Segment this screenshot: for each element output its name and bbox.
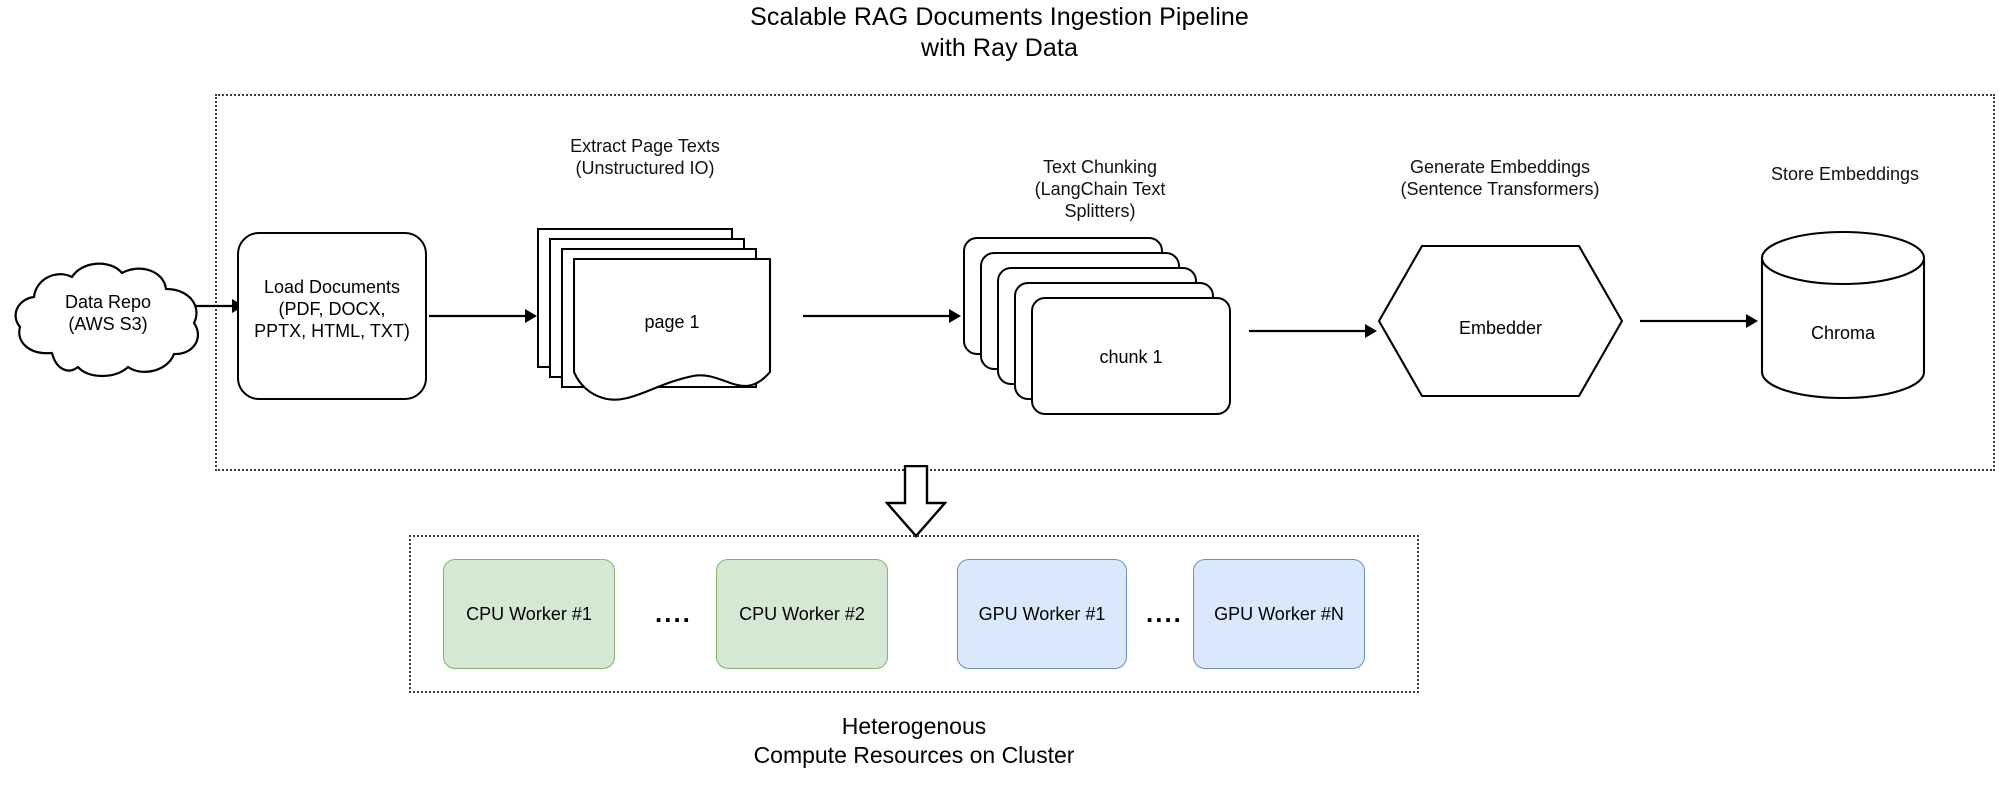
load-documents-label: Load Documents (PDF, DOCX, PPTX, HTML, T… (237, 277, 427, 343)
page-document-label: page 1 (573, 312, 771, 334)
text-chunking-caption: Text Chunking (LangChain Text Splitters) (955, 157, 1245, 223)
embedder-label: Embedder (1378, 318, 1623, 340)
cluster-caption: Heterogenous Compute Resources on Cluste… (409, 712, 1419, 771)
store-embeddings-caption: Store Embeddings (1700, 164, 1990, 186)
cpu-worker-2-box[interactable]: CPU Worker #2 (716, 559, 888, 669)
arrow-pages-to-chunks (803, 305, 961, 327)
cpu-worker-ellipsis: .... (655, 600, 692, 626)
page-title: Scalable RAG Documents Ingestion Pipelin… (0, 2, 1999, 63)
chroma-cylinder-shape (1760, 230, 1926, 400)
gpu-worker-1-box[interactable]: GPU Worker #1 (957, 559, 1127, 669)
arrow-embedder-to-chroma (1640, 310, 1758, 332)
arrow-chunks-to-embedder (1249, 320, 1377, 342)
chroma-label: Chroma (1760, 323, 1926, 345)
gpu-worker-ellipsis: .... (1146, 600, 1183, 626)
data-repo-label: Data Repo (AWS S3) (18, 292, 198, 336)
cpu-worker-1-box[interactable]: CPU Worker #1 (443, 559, 615, 669)
generate-embeddings-caption: Generate Embeddings (Sentence Transforme… (1340, 157, 1660, 201)
diagram-canvas: Scalable RAG Documents Ingestion Pipelin… (0, 0, 1999, 787)
chunk-front-label: chunk 1 (1031, 347, 1231, 369)
arrow-load-to-pages (429, 305, 537, 327)
pipeline-to-cluster-arrow (885, 465, 947, 538)
extract-page-texts-caption: Extract Page Texts (Unstructured IO) (470, 136, 820, 180)
gpu-worker-n-box[interactable]: GPU Worker #N (1193, 559, 1365, 669)
